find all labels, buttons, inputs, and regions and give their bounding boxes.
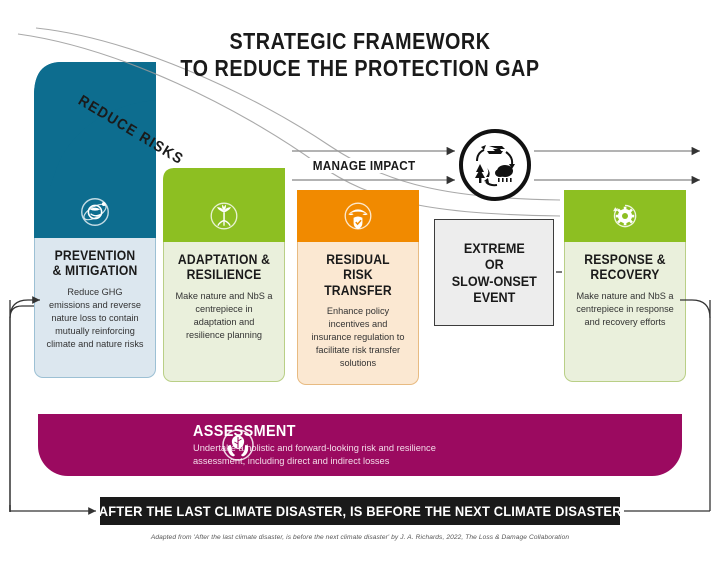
event-line-1: EXTREME	[464, 240, 525, 256]
bottom-banner: AFTER THE LAST CLIMATE DISASTER, IS BEFO…	[100, 497, 620, 525]
prevention-title-line2: & MITIGATION	[53, 263, 138, 278]
adaptation-title-line1: ADAPTATION &	[178, 252, 270, 267]
column-residual-risk-transfer[interactable]: RESIDUAL RISK TRANSFER Enhance policy in…	[297, 190, 419, 385]
infographic-canvas: STRATEGIC FRAMEWORK TO REDUCE THE PROTEC…	[0, 0, 720, 568]
prevention-header	[34, 186, 156, 238]
title-line-1: STRATEGIC FRAMEWORK	[50, 28, 669, 55]
event-line-3: SLOW-ONSET	[451, 273, 536, 289]
residual-title-line2: RISK TRANSFER	[324, 267, 392, 297]
adaptation-title-line2: RESILIENCE	[187, 267, 262, 282]
hazard-cycle-icon	[459, 129, 531, 201]
response-header	[564, 190, 686, 242]
umbrella-shield-icon	[343, 201, 373, 231]
assessment-title: ASSESSMENT	[193, 423, 412, 441]
adaptation-title: ADAPTATION & RESILIENCE	[177, 252, 271, 283]
prevention-title-line1: PREVENTION	[55, 248, 136, 263]
extreme-event-text: EXTREME OR SLOW-ONSET EVENT	[451, 240, 536, 305]
assessment-band[interactable]: ASSESSMENT Undertake a holistic and forw…	[38, 414, 682, 476]
residual-title: RESIDUAL RISK TRANSFER	[311, 252, 405, 298]
column-prevention-mitigation[interactable]: PREVENTION & MITIGATION Reduce GHG emiss…	[34, 186, 156, 378]
prevention-description: Reduce GHG emissions and reverse nature …	[43, 286, 147, 351]
prevention-body: PREVENTION & MITIGATION Reduce GHG emiss…	[34, 238, 156, 378]
globe-atom-icon	[80, 197, 110, 227]
extreme-event-box: EXTREME OR SLOW-ONSET EVENT	[434, 219, 554, 326]
response-title-line2: RECOVERY	[590, 267, 659, 282]
reduce-risks-label: REDUCE RISKS	[75, 92, 186, 168]
response-title: RESPONSE & RECOVERY	[578, 252, 672, 283]
adaptation-header	[163, 190, 285, 242]
adaptation-description: Make nature and NbS a centrepiece in ada…	[172, 290, 276, 342]
page-title: STRATEGIC FRAMEWORK TO REDUCE THE PROTEC…	[0, 28, 720, 82]
prevention-title: PREVENTION & MITIGATION	[48, 248, 142, 279]
response-description: Make nature and NbS a centrepiece in res…	[573, 290, 677, 329]
residual-header	[297, 190, 419, 242]
event-line-4: EVENT	[473, 289, 515, 305]
source-caption: Adapted from 'After the last climate dis…	[0, 534, 720, 541]
adaptation-body: ADAPTATION & RESILIENCE Make nature and …	[163, 242, 285, 382]
event-line-2: OR	[485, 256, 504, 272]
residual-title-line1: RESIDUAL	[326, 252, 390, 267]
response-body: RESPONSE & RECOVERY Make nature and NbS …	[564, 242, 686, 382]
bottom-banner-text: AFTER THE LAST CLIMATE DISASTER, IS BEFO…	[99, 503, 622, 519]
title-line-2: TO REDUCE THE PROTECTION GAP	[50, 55, 669, 82]
response-title-line1: RESPONSE &	[584, 252, 665, 267]
tree-roots-icon	[209, 201, 239, 231]
gear-recovery-icon	[610, 201, 640, 231]
residual-body: RESIDUAL RISK TRANSFER Enhance policy in…	[297, 242, 419, 385]
residual-description: Enhance policy incentives and insurance …	[306, 305, 410, 370]
column-response-recovery[interactable]: RESPONSE & RECOVERY Make nature and NbS …	[564, 190, 686, 382]
manage-impact-label: MANAGE IMPACT	[306, 158, 421, 173]
column-adaptation-resilience[interactable]: ADAPTATION & RESILIENCE Make nature and …	[163, 190, 285, 382]
